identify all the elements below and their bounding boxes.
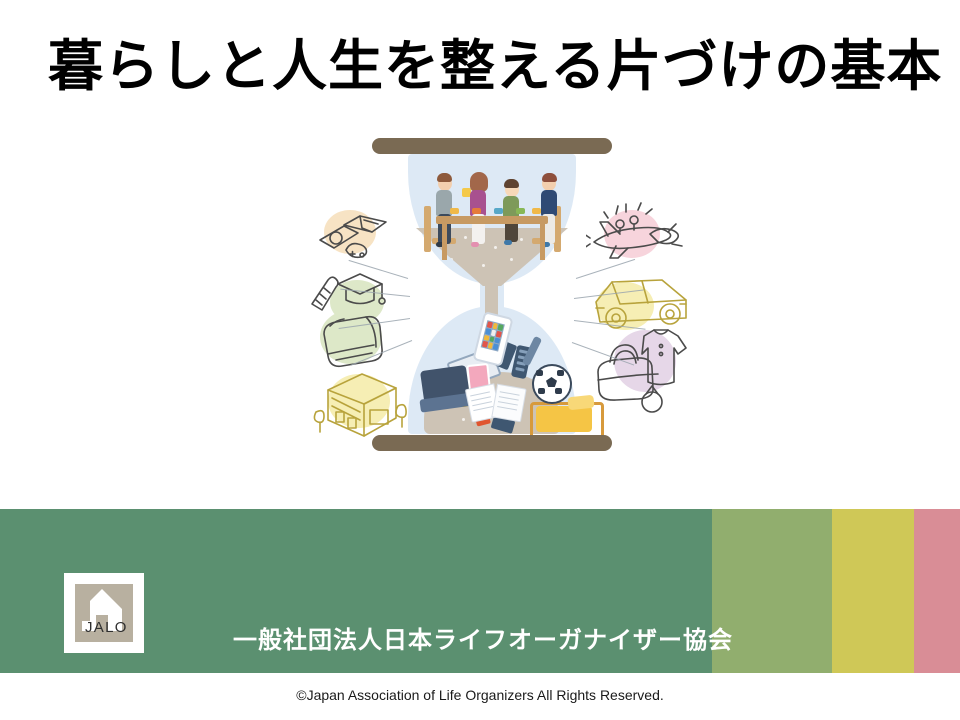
table-leg [540, 224, 545, 260]
food-plate [532, 208, 541, 214]
drink-cup [494, 208, 503, 214]
page-title: 暮らしと人生を整える片づけの基本 [48, 34, 928, 99]
food-plate [516, 208, 525, 214]
house-doodle [308, 366, 412, 438]
game-console-doodle [314, 206, 406, 270]
phone-screen [481, 320, 505, 352]
food-plate [472, 208, 481, 214]
hourglass-life-illustration [300, 128, 700, 468]
bed-pillow [567, 395, 594, 411]
hourglass-bottom-bar [372, 435, 612, 451]
slide-canvas: 暮らしと人生を整える片づけの基本 [0, 0, 960, 720]
organization-name: 一般社団法人日本ライフオーガナイザー協会 [0, 620, 960, 655]
copyright-text: ©Japan Association of Life Organizers Al… [0, 687, 960, 703]
bag-clothes-ring-doodle [588, 324, 696, 420]
chair [424, 206, 431, 252]
food-plate [450, 208, 459, 214]
family-dining-scene [410, 164, 574, 260]
hourglass-top-bar [372, 138, 612, 154]
airplane-doodle [586, 200, 692, 268]
soccer-ball-object [532, 364, 572, 404]
table-leg [442, 224, 447, 260]
person-father [434, 170, 462, 260]
dining-table [436, 216, 548, 224]
book-object [491, 384, 526, 423]
person-mother [468, 168, 496, 260]
